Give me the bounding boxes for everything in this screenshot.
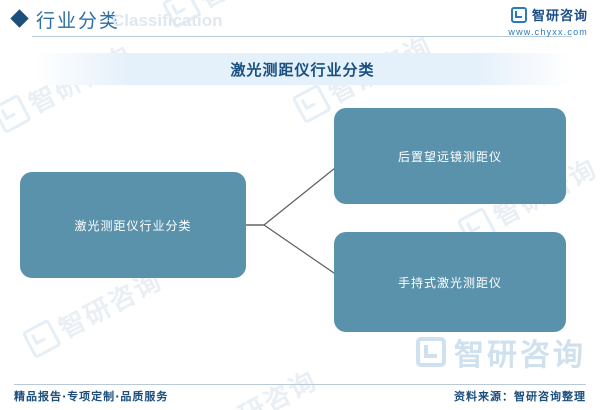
zhiyan-logo-icon [416,337,446,367]
footer-source: 资料来源：智研咨询整理 [454,388,586,404]
brand-name: 智研咨询 [532,5,588,24]
footer-tagline: 精品报告·专项定制·品质服务 [14,388,168,404]
page-subtitle: Classification [112,11,223,31]
diagram-node-label: 激光测距仪行业分类 [74,217,191,234]
diagram-node-label: 手持式激光测距仪 [398,274,502,291]
footer-divider [14,384,586,385]
footer-brand-watermark: 智研咨询 [416,330,586,374]
diagram-node-child-2[interactable]: 手持式激光测距仪 [334,232,566,332]
header-divider [32,36,572,37]
page-title: 行业分类 [36,6,120,33]
diamond-icon [10,9,28,27]
brand-row: 智研咨询 [508,5,588,24]
zhiyan-logo-icon [511,7,527,23]
brand-logo[interactable]: 智研咨询 www.chyxx.com [508,5,588,37]
diagram-node-label: 后置望远镜测距仪 [398,148,502,165]
footer-watermark-text: 智研咨询 [454,330,586,374]
brand-url[interactable]: www.chyxx.com [508,27,588,37]
diagram-node-child-1[interactable]: 后置望远镜测距仪 [334,108,566,204]
diagram-node-root[interactable]: 激光测距仪行业分类 [20,172,246,278]
